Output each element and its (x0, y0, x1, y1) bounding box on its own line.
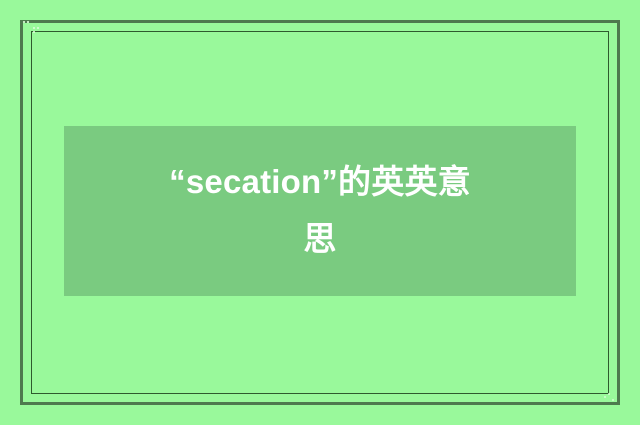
corner-artifact-pixel (27, 21, 29, 23)
corner-artifact-pixel (604, 396, 606, 398)
banner-title-text: “secation”的英英意思 (160, 154, 480, 268)
corner-artifact-pixel (612, 399, 614, 401)
corner-artifact-pixel (33, 31, 35, 33)
title-banner: “secation”的英英意思 (64, 126, 576, 296)
page-canvas: “secation”的英英意思 (0, 0, 640, 425)
corner-artifact-pixel (33, 27, 35, 29)
corner-artifact-pixel (23, 21, 25, 23)
corner-artifact-pixel (37, 27, 39, 29)
corner-artifact-pixel (608, 393, 610, 395)
